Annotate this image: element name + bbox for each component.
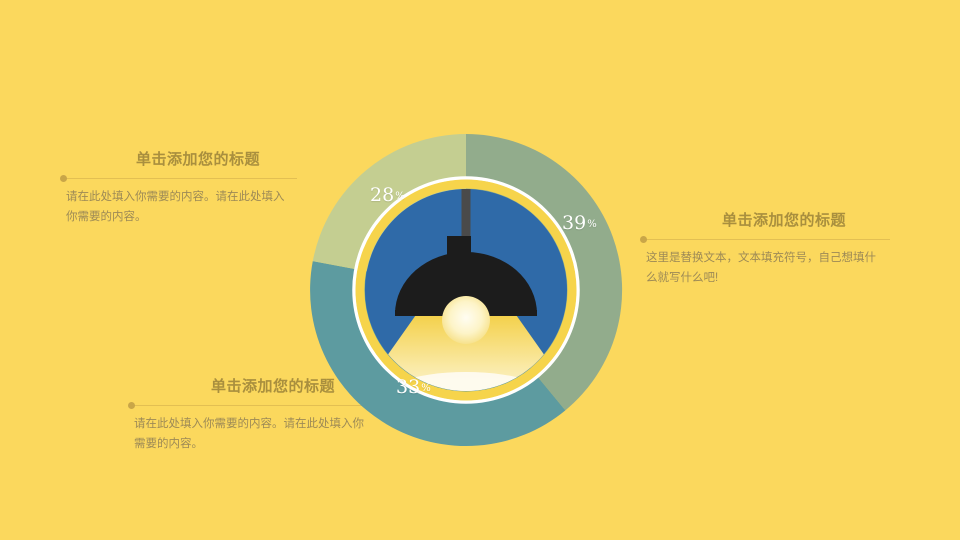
block-title: 单击添加您的标题 <box>60 152 310 169</box>
text-block-top-left[interactable]: 单击添加您的标题 请在此处填入你需要的内容。请在此处填入你需要的内容。 <box>60 152 310 227</box>
text-block-right[interactable]: 单击添加您的标题 这里是替换文本，文本填充符号，自己想填什么就写什么吧! <box>640 213 910 288</box>
pie-label-28: 28% <box>370 184 405 206</box>
title-rule <box>60 174 310 183</box>
block-title: 单击添加您的标题 <box>640 213 910 230</box>
rule-dot-icon <box>128 402 135 409</box>
title-rule <box>640 235 910 244</box>
pie-label-39: 39% <box>562 212 597 234</box>
pie-chart[interactable]: 28% 39% 33% <box>300 124 632 456</box>
rule-dot-icon <box>60 175 67 182</box>
block-body: 请在此处填入你需要的内容。请在此处填入你需要的内容。 <box>60 187 292 227</box>
rule-line <box>645 239 890 240</box>
pie-label-33: 33% <box>396 376 431 398</box>
slide-canvas: 单击添加您的标题 请在此处填入你需要的内容。请在此处填入你需要的内容。 单击添加… <box>0 0 960 540</box>
rule-line <box>65 178 297 179</box>
block-body: 这里是替换文本，文本填充符号，自己想填什么就写什么吧! <box>640 248 886 288</box>
rule-dot-icon <box>640 236 647 243</box>
lamp-bulb <box>442 296 490 344</box>
pie-chart-svg <box>300 124 632 456</box>
